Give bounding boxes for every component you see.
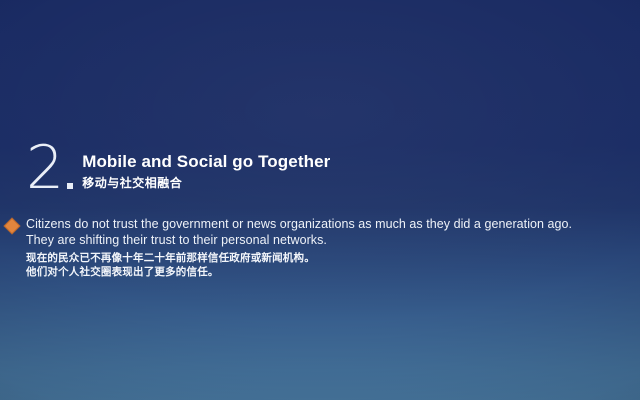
slide-title-english: Mobile and Social go Together [82,152,330,172]
bullet-english-line-2: They are shifting their trust to their p… [26,232,638,248]
bullet-chinese-line-2: 他们对个人社交圈表现出了更多的信任。 [26,265,638,279]
slide-number-period-icon [67,183,73,189]
slide-heading: 2 Mobile and Social go Together 移动与社交相融合 [26,142,330,194]
bullet-text-group: Citizens do not trust the government or … [26,216,638,279]
title-group: Mobile and Social go Together 移动与社交相融合 [82,142,330,191]
bullet-english-line-1: Citizens do not trust the government or … [26,216,638,232]
slide-number-group: 2 [26,142,73,194]
diamond-bullet-icon [4,218,21,235]
bullet-point: Citizens do not trust the government or … [6,216,638,279]
slide-title-chinese: 移动与社交相融合 [82,176,330,191]
bullet-chinese-line-1: 现在的民众已不再像十年二十年前那样信任政府或新闻机构。 [26,251,638,265]
slide-number: 2 [26,142,63,194]
presentation-slide: 2 Mobile and Social go Together 移动与社交相融合… [0,0,640,400]
